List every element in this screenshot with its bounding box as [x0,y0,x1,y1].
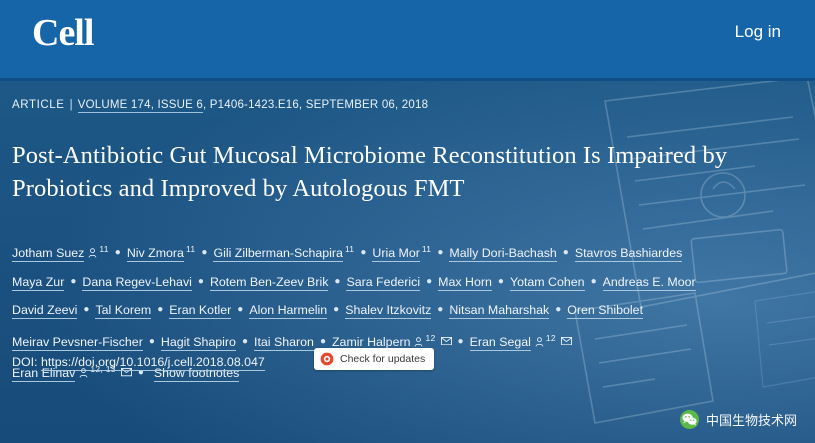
author-bullet: ● [557,247,575,258]
author-bullet: ● [109,247,127,258]
watermark: 中国生物技术网 [680,410,797,429]
article-type-label: ARTICLE [12,99,65,111]
author-link[interactable]: Gili Zilberman-Schapira [213,246,342,262]
author-bullet: ● [431,247,449,258]
author-bullet: ● [492,276,510,287]
author-link[interactable]: Niv Zmora [127,246,184,262]
author-link[interactable]: Max Horn [438,275,492,291]
author-bullet: ● [195,247,213,258]
site-header: Cell Log in [0,0,815,78]
author-bullet: ● [431,304,449,315]
author-link[interactable]: Jotham Suez [12,246,84,262]
author-bullet: ● [314,336,332,347]
citation-info: , P1406-1423.E16, SEPTEMBER 06, 2018 [203,99,428,111]
author-link[interactable]: David Zeevi [12,303,77,319]
author-affiliation-sup[interactable]: 11 [420,244,431,254]
author-bullet: ● [549,304,567,315]
author-bullet: ● [77,304,95,315]
author-affiliation-sup[interactable]: 12 [423,333,435,343]
volume-issue-link[interactable]: VOLUME 174, ISSUE 6 [78,99,203,113]
article-page: Cell Log in [0,0,815,443]
author-affiliation-sup[interactable]: 11 [343,244,354,254]
envelope-icon[interactable] [441,337,452,346]
author-link[interactable]: Dana Regev-Lehavi [82,275,192,291]
author-link[interactable]: Eran Segal [470,335,531,351]
doi-line: DOI: https://doi.org/10.1016/j.cell.2018… [12,355,265,369]
meta-separator: | [65,99,78,111]
wechat-icon [680,410,699,429]
author-bullet: ● [236,336,254,347]
page-title: Post-Antibiotic Gut Mucosal Microbiome R… [12,139,782,205]
author-row: David Zeevi●Tal Korem●Eran Kotler●Alon H… [12,296,802,325]
author-link[interactable]: Eran Kotler [169,303,231,319]
author-link[interactable]: Hagit Shapiro [161,335,236,351]
author-affiliation-sup[interactable]: 11 [184,244,195,254]
author-bullet: ● [327,304,345,315]
envelope-icon[interactable] [561,337,572,346]
author-link[interactable]: Yotam Cohen [510,275,585,291]
author-bullet: ● [143,336,161,347]
crossmark-icon [320,352,334,366]
author-bullet: ● [420,276,438,287]
author-link[interactable]: Mally Dori-Bachash [449,246,556,262]
doi-label: DOI: [12,355,37,369]
article-content: ARTICLE|VOLUME 174, ISSUE 6, P1406-1423.… [0,81,815,443]
person-icon[interactable] [535,337,544,347]
cell-logo[interactable]: Cell [32,14,93,52]
log-in-link[interactable]: Log in [735,22,781,42]
author-link[interactable]: Nitsan Maharshak [449,303,549,319]
person-icon[interactable] [88,248,97,258]
author-row: Maya Zur●Dana Regev-Lehavi●Rotem Ben-Zee… [12,268,802,297]
author-row: Jotham Suez11●Niv Zmora11●Gili Zilberman… [12,236,802,268]
author-bullet: ● [64,276,82,287]
check-for-updates-button[interactable]: Check for updates [314,348,434,370]
author-link[interactable]: Uria Mor [372,246,420,262]
author-link[interactable]: Itai Sharon [254,335,314,351]
check-for-updates-label: Check for updates [340,353,425,365]
author-bullet: ● [354,247,372,258]
author-link[interactable]: Maya Zur [12,275,64,291]
author-link[interactable]: Tal Korem [95,303,151,319]
article-hero: ARTICLE|VOLUME 174, ISSUE 6, P1406-1423.… [0,81,815,443]
author-link[interactable]: Sara Federici [346,275,420,291]
author-link[interactable]: Rotem Ben-Zeev Brik [210,275,328,291]
author-bullet: ● [231,304,249,315]
author-bullet: ● [192,276,210,287]
author-link[interactable]: Shalev Itzkovitz [345,303,431,319]
author-affiliation-sup[interactable]: 11 [97,244,108,254]
author-bullet: ● [328,276,346,287]
author-link[interactable]: Alon Harmelin [249,303,327,319]
author-bullet: ● [151,304,169,315]
doi-link[interactable]: https://doi.org/10.1016/j.cell.2018.08.0… [41,355,265,371]
author-bullet: ● [585,276,603,287]
author-affiliation-sup[interactable]: 12 [544,333,556,343]
author-link[interactable]: Stavros Bashiardes [575,246,682,262]
author-link[interactable]: Meirav Pevsner-Fischer [12,335,143,351]
author-bullet: ● [452,336,470,347]
watermark-label: 中国生物技术网 [706,410,797,429]
article-meta: ARTICLE|VOLUME 174, ISSUE 6, P1406-1423.… [12,99,428,111]
author-link[interactable]: Oren Shibolet [567,303,643,319]
author-link[interactable]: Andreas E. Moor [603,275,696,291]
